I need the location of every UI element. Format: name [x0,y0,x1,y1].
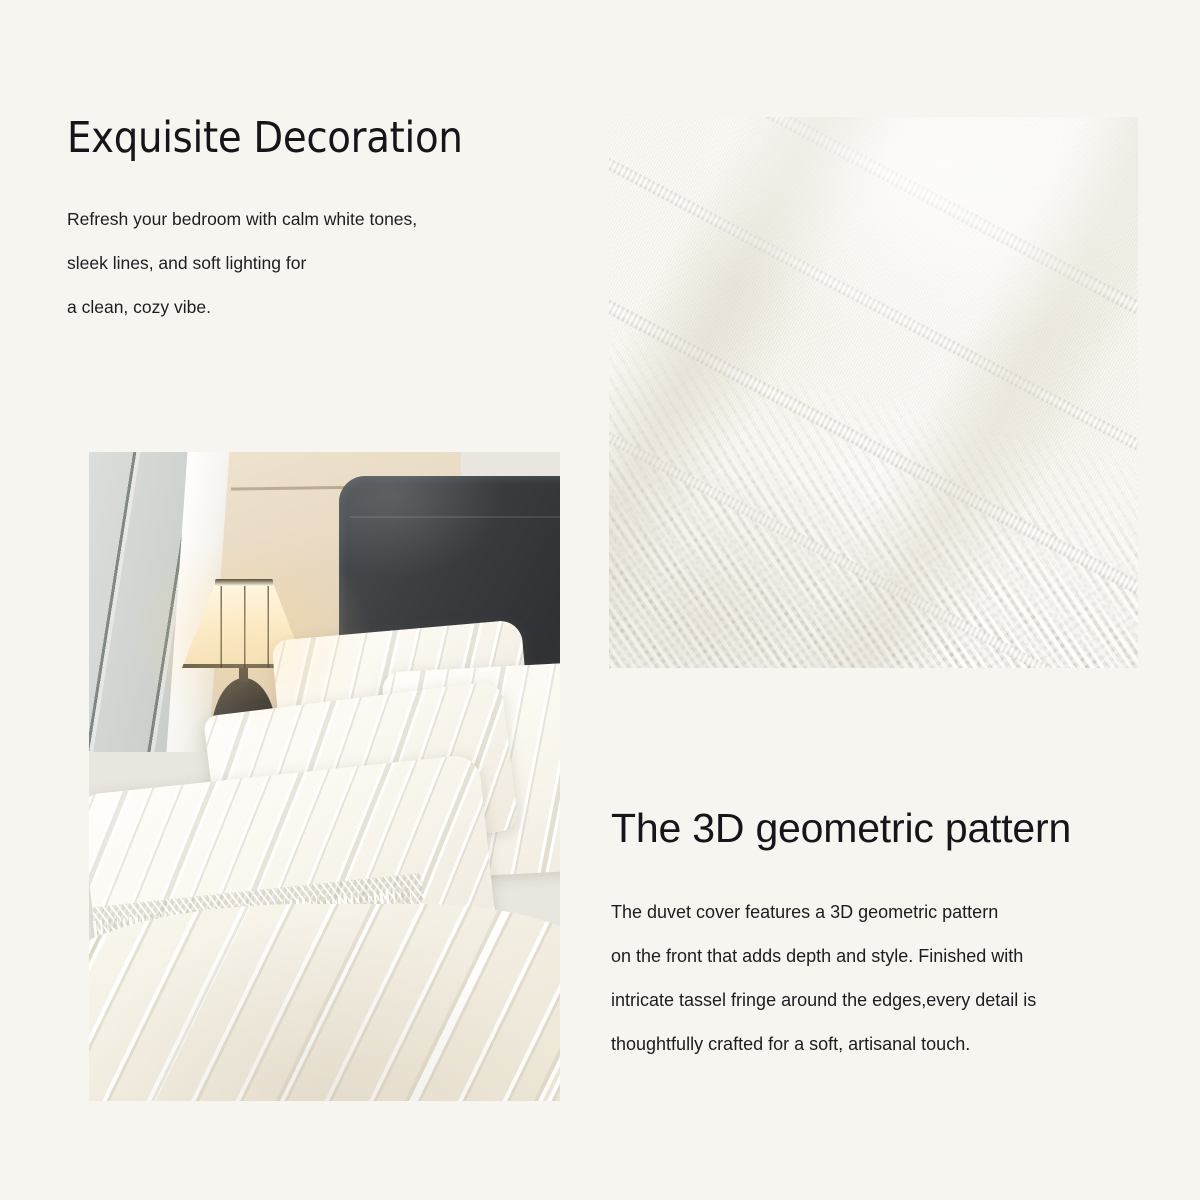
left-paragraph-line-2: sleek lines, and soft lighting for [67,241,587,285]
right-paragraph-line-4: thoughtfully crafted for a soft, artisan… [611,1022,1181,1066]
product-feature-page: Exquisite Decoration Refresh your bedroo… [0,0,1200,1200]
table-lamp-neck [239,666,248,682]
table-lamp-shade-top [215,579,273,586]
duvet-cover [89,904,560,1101]
right-section-heading: The 3D geometric pattern [611,805,1071,852]
left-section-heading: Exquisite Decoration [67,113,463,163]
right-paragraph-line-1: The duvet cover features a 3D geometric … [611,890,1181,934]
right-paragraph-line-2: on the front that adds depth and style. … [611,934,1181,978]
bedroom-scene-image [89,452,560,1101]
left-paragraph-line-1: Refresh your bedroom with calm white ton… [67,197,587,241]
fabric-fold-shading [609,117,1138,668]
left-paragraph-line-3: a clean, cozy vibe. [67,285,587,329]
right-section-paragraph: The duvet cover features a 3D geometric … [611,890,1181,1066]
fabric-closeup-image [609,117,1138,668]
left-section-paragraph: Refresh your bedroom with calm white ton… [67,197,587,329]
right-paragraph-line-3: intricate tassel fringe around the edges… [611,978,1181,1022]
